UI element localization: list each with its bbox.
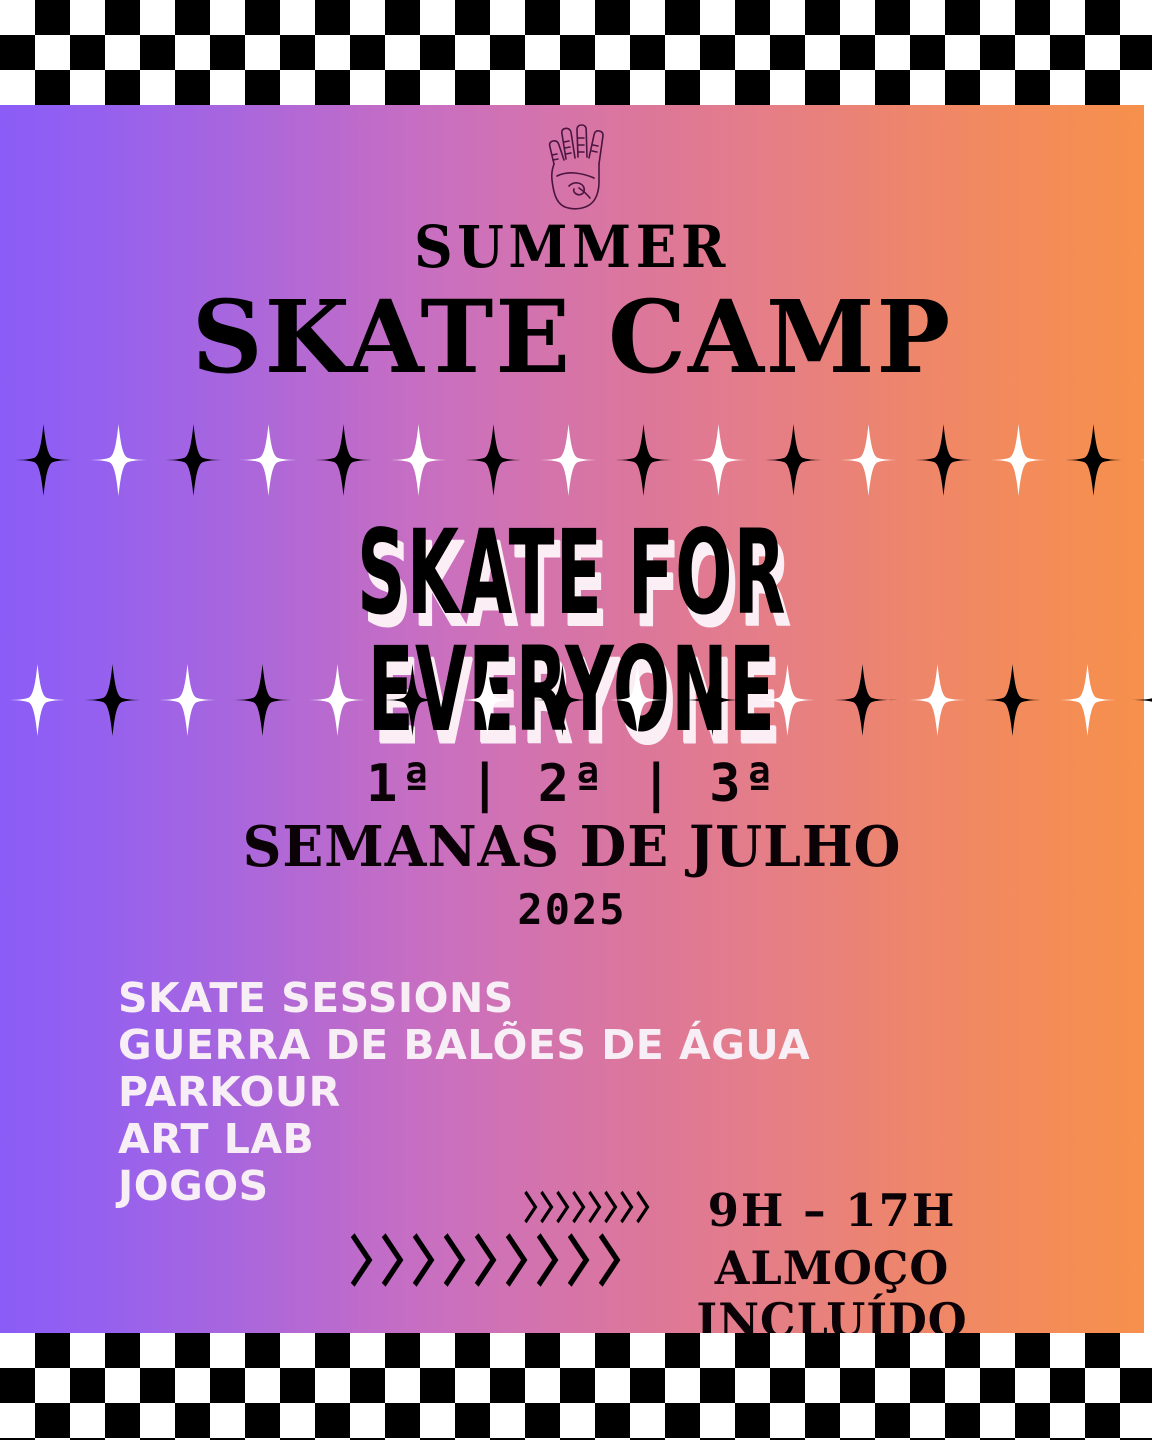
four-point-sparkle-icon (375, 652, 450, 748)
month-line: SEMANAS DE JULHO (23, 814, 1121, 880)
open-hand-icon (523, 118, 629, 220)
four-point-sparkle-icon (750, 652, 825, 748)
list-item: ART LAB (118, 1116, 810, 1163)
chevron-right-icon (534, 1232, 565, 1288)
four-point-sparkle-icon (1050, 652, 1125, 748)
four-point-sparkle-icon (825, 652, 900, 748)
four-point-sparkle-icon (900, 652, 975, 748)
four-point-sparkle-icon (81, 412, 156, 508)
chevron-right-icon (565, 1232, 596, 1288)
four-point-sparkle-icon (681, 412, 756, 508)
activities-ul: SKATE SESSIONS GUERRA DE BALÕES DE ÁGUA … (118, 975, 810, 1210)
four-point-sparkle-icon (381, 412, 456, 508)
four-point-sparkle-icon (456, 412, 531, 508)
four-point-sparkle-icon (231, 412, 306, 508)
eyebrow-summer: SUMMER (46, 218, 1098, 276)
four-point-sparkle-icon (225, 652, 300, 748)
tagline-block: SKATE FOR EVERYONE (0, 514, 1144, 644)
chevron-right-icon (472, 1232, 503, 1288)
dates-block: 1ª | 2ª | 3ª SEMANAS DE JULHO 2025 (0, 756, 1144, 937)
four-point-sparkle-icon (600, 652, 675, 748)
four-point-sparkle-icon (531, 412, 606, 508)
hours-text: 9H – 17H (612, 1186, 1052, 1236)
poster-canvas: SUMMER SKATE CAMP SKATE FOR EVERYONE 1ª … (0, 0, 1152, 1440)
four-point-sparkle-icon (525, 652, 600, 748)
lunch-text: ALMOÇO INCLUÍDO (619, 1242, 1046, 1348)
four-point-sparkle-icon (306, 412, 381, 508)
four-point-sparkle-icon (1056, 412, 1131, 508)
chevron-right-icon (410, 1232, 441, 1288)
checkerboard-bottom-border (0, 1333, 1152, 1440)
list-item: PARKOUR (118, 1069, 810, 1116)
checkerboard-top-border (0, 0, 1152, 105)
chevron-right-icon (572, 1190, 588, 1224)
chevron-row-large (348, 1232, 627, 1288)
four-point-sparkle-icon (906, 412, 981, 508)
chevron-right-icon (441, 1232, 472, 1288)
four-point-sparkle-icon (1131, 412, 1152, 508)
list-item: SKATE SESSIONS (118, 975, 810, 1022)
chevron-right-icon (588, 1190, 604, 1224)
four-point-sparkle-icon (975, 652, 1050, 748)
headline-block: SUMMER SKATE CAMP (0, 218, 1144, 390)
schedule-info-block: 9H – 17H ALMOÇO INCLUÍDO (612, 1186, 1052, 1347)
weeks-line: 1ª | 2ª | 3ª (0, 756, 1144, 812)
four-point-sparkle-icon (756, 412, 831, 508)
sparkle-divider-bottom (0, 652, 1152, 748)
year-line: 2025 (0, 884, 1144, 937)
list-item: GUERRA DE BALÕES DE ÁGUA (118, 1022, 810, 1069)
four-point-sparkle-icon (450, 652, 525, 748)
page-title: SKATE CAMP (11, 284, 1132, 390)
four-point-sparkle-icon (606, 412, 681, 508)
four-point-sparkle-icon (0, 652, 75, 748)
chevron-right-icon (540, 1190, 556, 1224)
four-point-sparkle-icon (300, 652, 375, 748)
four-point-sparkle-icon (156, 412, 231, 508)
chevron-right-icon (524, 1190, 540, 1224)
four-point-sparkle-icon (981, 412, 1056, 508)
four-point-sparkle-icon (6, 412, 81, 508)
four-point-sparkle-icon (675, 652, 750, 748)
sparkle-divider-top (0, 412, 1152, 508)
chevron-right-icon (556, 1190, 572, 1224)
four-point-sparkle-icon (831, 412, 906, 508)
activities-list: SKATE SESSIONS GUERRA DE BALÕES DE ÁGUA … (118, 975, 810, 1210)
four-point-sparkle-icon (150, 652, 225, 748)
chevron-right-icon (379, 1232, 410, 1288)
chevron-right-icon (348, 1232, 379, 1288)
chevron-right-icon (503, 1232, 534, 1288)
four-point-sparkle-icon (1125, 652, 1152, 748)
four-point-sparkle-icon (75, 652, 150, 748)
